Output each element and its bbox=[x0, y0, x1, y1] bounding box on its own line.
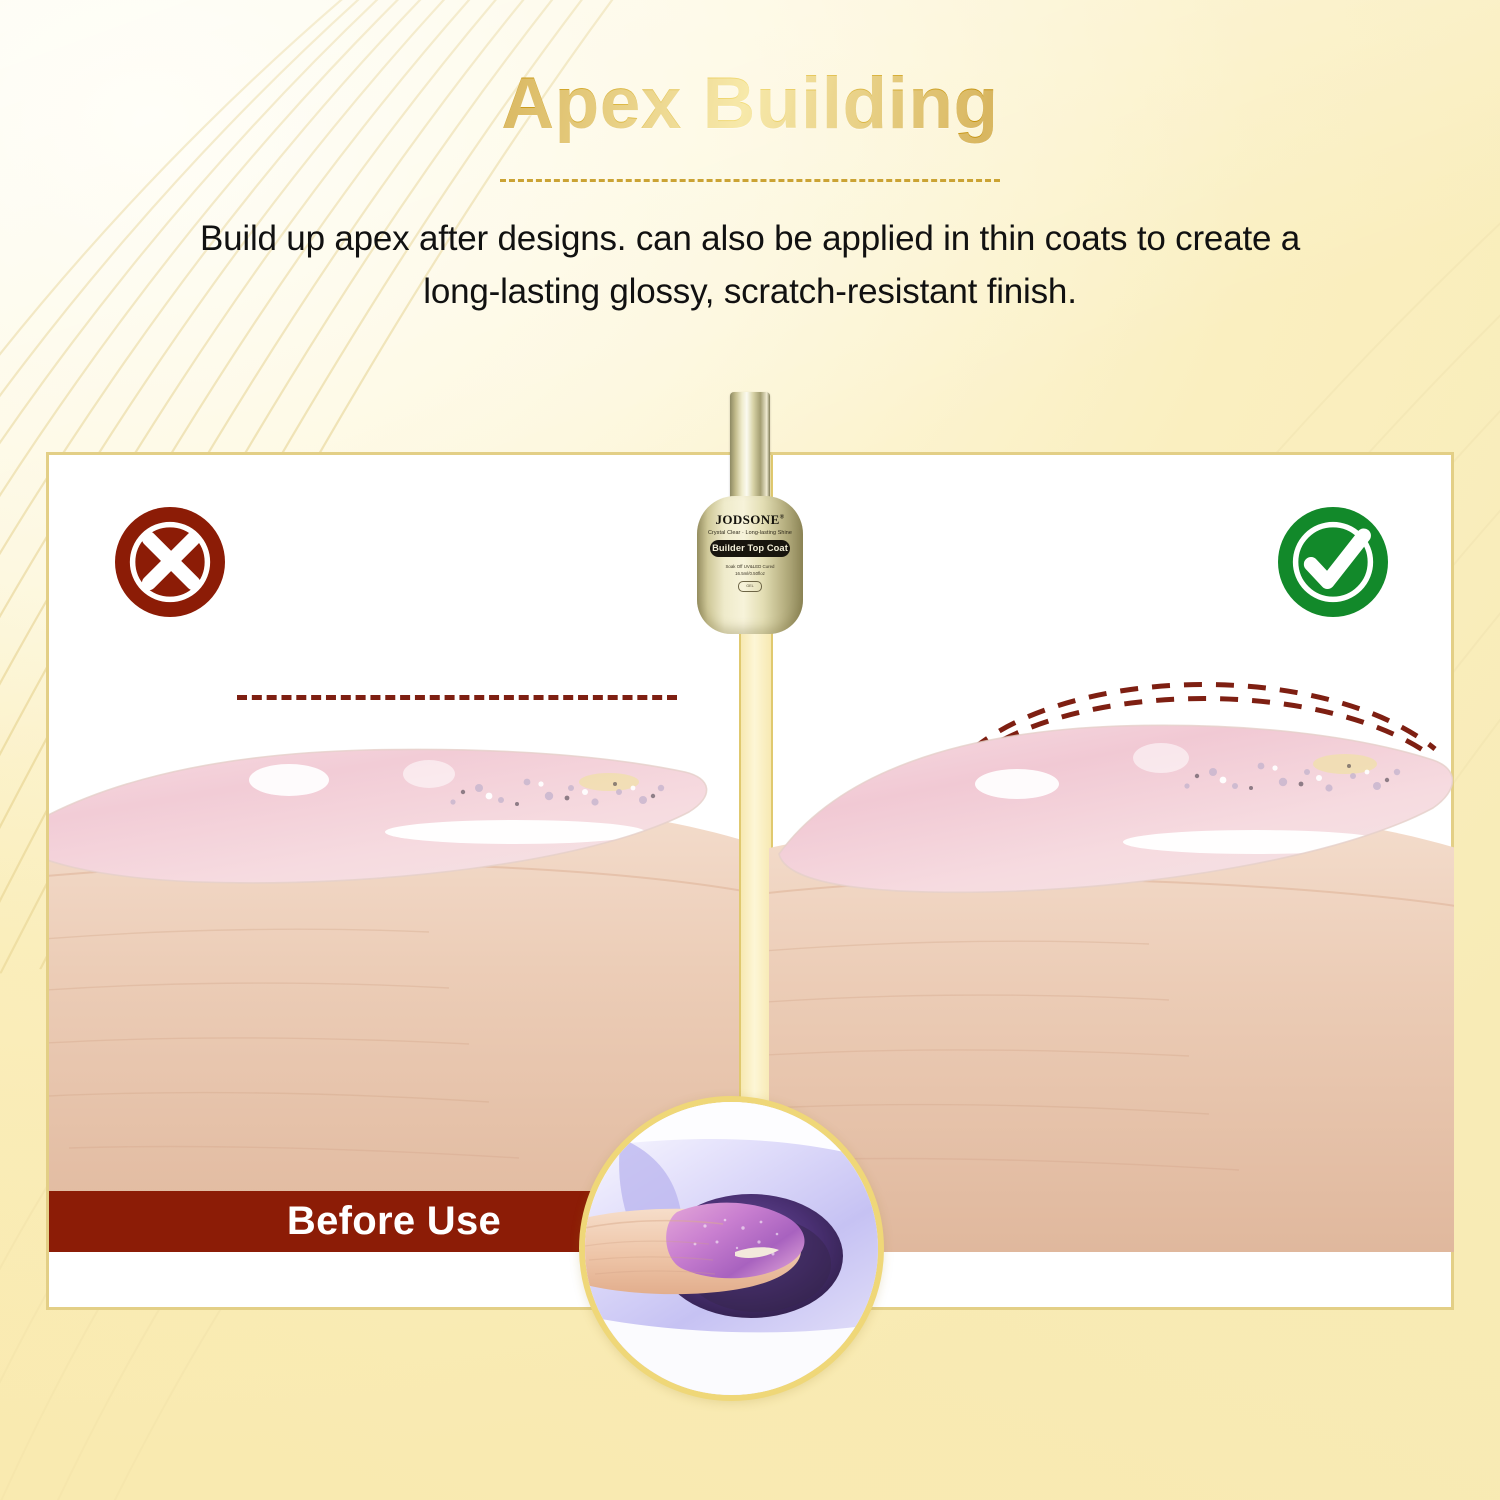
title-divider bbox=[500, 179, 1000, 182]
bottle-label: JODSONE® Crystal Clear · Long-lasting Sh… bbox=[705, 512, 795, 624]
brand-text: JODSONE bbox=[715, 512, 779, 527]
check-circle-icon bbox=[1278, 507, 1388, 617]
cross-circle-icon bbox=[115, 507, 225, 617]
header: Apex Building Build up apex after design… bbox=[0, 0, 1500, 360]
after-nail-photo bbox=[769, 692, 1454, 1252]
product-tagline: Crystal Clear · Long-lasting Shine bbox=[705, 530, 795, 536]
page-title: Apex Building bbox=[0, 0, 1500, 145]
product-name: Builder Top Coat bbox=[710, 540, 790, 557]
seal-badge: GEL bbox=[738, 581, 762, 592]
trademark-symbol: ® bbox=[780, 515, 785, 521]
bottle-cap bbox=[730, 392, 770, 504]
bottle-body: JODSONE® Crystal Clear · Long-lasting Sh… bbox=[697, 496, 803, 634]
cure-note: Soak Off UV&LED Cured bbox=[705, 564, 795, 569]
product-bottle: JODSONE® Crystal Clear · Long-lasting Sh… bbox=[697, 392, 803, 638]
uv-lamp-inset bbox=[579, 1096, 884, 1401]
brand-name: JODSONE® bbox=[705, 512, 795, 528]
volume-text: 16.5ml/0.50floz bbox=[705, 571, 795, 576]
page-subtitle: Build up apex after designs. can also be… bbox=[195, 212, 1305, 318]
after-half: After Use bbox=[769, 455, 1454, 1252]
